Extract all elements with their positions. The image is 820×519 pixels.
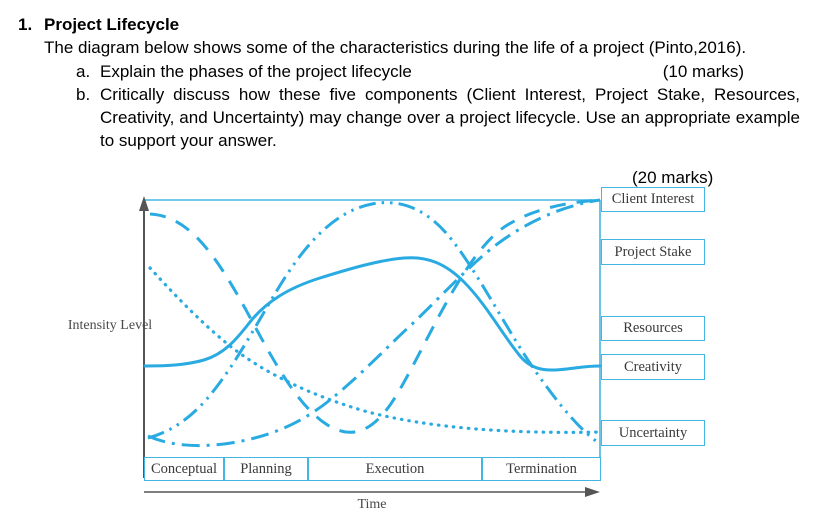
question-number: 1. <box>18 14 44 36</box>
sub-question-b-text: Critically discuss how these five compon… <box>100 83 800 152</box>
legend-item-uncertainty[interactable]: Uncertainty <box>601 420 705 446</box>
sub-question-a-letter: a. <box>76 60 100 83</box>
y-axis-label-text: Intensity Level <box>68 318 152 333</box>
x-axis-label-text: Time <box>357 497 386 512</box>
legend-item-creativity[interactable]: Creativity <box>601 354 705 380</box>
sub-question-a-text: Explain the phases of the project lifecy… <box>100 62 412 81</box>
legend-label-creativity: Creativity <box>624 359 682 376</box>
sub-question-b-marks: (20 marks) <box>632 168 713 188</box>
series-resources <box>148 200 600 446</box>
sub-question-b: b. Critically discuss how these five com… <box>76 83 800 152</box>
sub-question-a-text-wrap: Explain the phases of the project lifecy… <box>100 60 800 83</box>
y-axis-arrowhead <box>139 196 149 211</box>
phase-label-termination: Termination <box>506 461 577 478</box>
phase-label-execution: Execution <box>366 461 425 478</box>
sub-question-a-marks: (10 marks) <box>663 60 744 83</box>
legend-label-resources: Resources <box>623 320 683 337</box>
y-axis-label: Intensity Level <box>66 318 154 334</box>
legend-item-project-stake[interactable]: Project Stake <box>601 239 705 265</box>
project-lifecycle-diagram: (20 marks) Client Interest Project Stake… <box>0 182 820 519</box>
phase-label-conceptual: Conceptual <box>151 461 217 478</box>
sub-question-b-text-wrap: Critically discuss how these five compon… <box>100 83 800 152</box>
question-title: Project Lifecycle <box>44 14 179 36</box>
x-axis-label: Time <box>330 497 414 513</box>
sub-question-b-letter: b. <box>76 83 100 106</box>
sub-question-list: a. Explain the phases of the project lif… <box>76 60 800 152</box>
legend-item-client-interest[interactable]: Client Interest <box>601 187 705 212</box>
sub-question-a: a. Explain the phases of the project lif… <box>76 60 800 83</box>
phase-box-termination[interactable]: Termination <box>482 457 601 481</box>
series-creativity <box>145 258 600 370</box>
question-intro: The diagram below shows some of the char… <box>44 36 816 59</box>
phase-box-conceptual[interactable]: Conceptual <box>144 457 224 481</box>
legend-label-project-stake: Project Stake <box>615 244 692 261</box>
legend-label-client-interest: Client Interest <box>612 191 695 208</box>
series-client-interest <box>150 200 600 432</box>
question-heading: 1. Project Lifecycle <box>18 14 800 36</box>
phase-box-planning[interactable]: Planning <box>224 457 308 481</box>
legend-label-uncertainty: Uncertainty <box>619 425 687 442</box>
series-uncertainty <box>150 268 600 432</box>
series-project-stake <box>148 203 600 444</box>
x-axis-arrowhead <box>585 487 600 497</box>
legend-item-resources[interactable]: Resources <box>601 316 705 341</box>
phase-label-planning: Planning <box>240 461 292 478</box>
phase-box-execution[interactable]: Execution <box>308 457 482 481</box>
question-block: 1. Project Lifecycle The diagram below s… <box>0 0 820 152</box>
